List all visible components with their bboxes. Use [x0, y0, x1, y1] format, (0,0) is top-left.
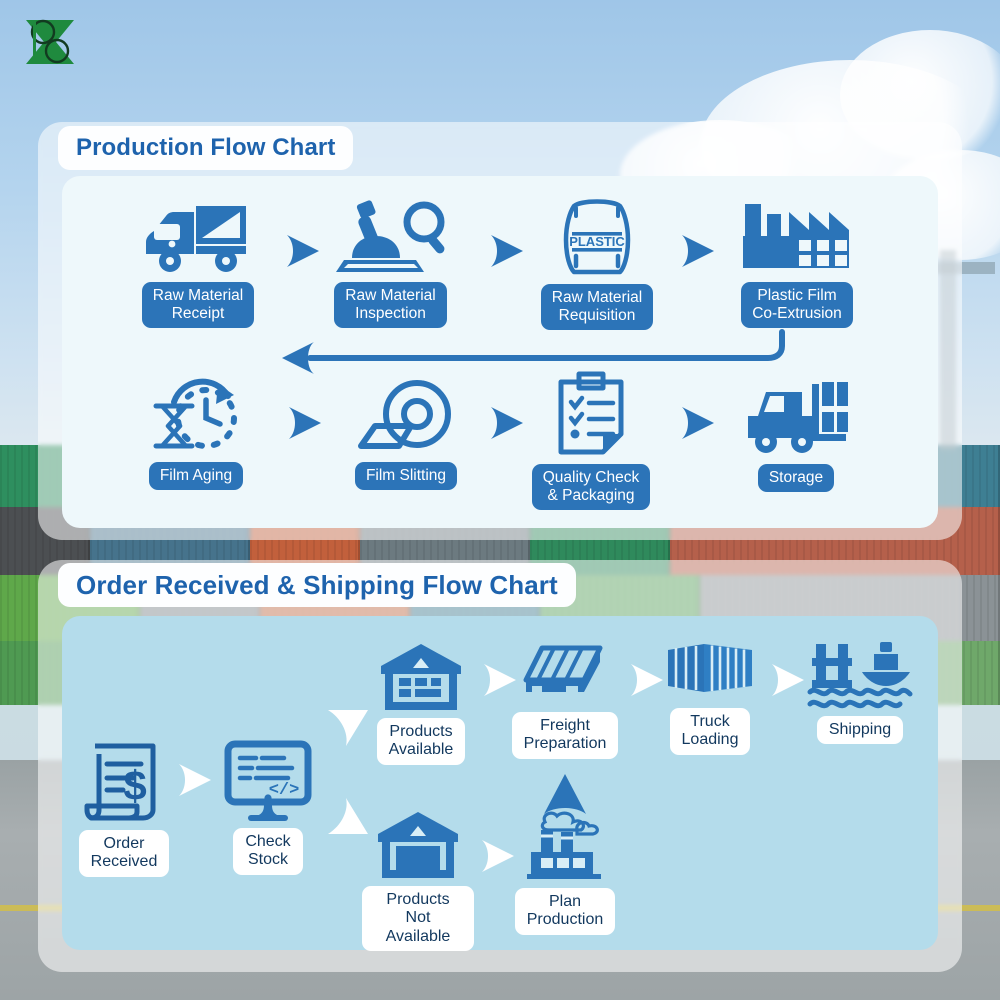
flow-arrow-right: [768, 662, 808, 698]
dollar-glyph: $: [123, 762, 146, 809]
shipping-container-icon: [664, 640, 756, 702]
node-film-slitting[interactable]: Film Slitting: [350, 378, 462, 490]
factory-smoke-icon: [519, 808, 611, 882]
branch-arrow-up: [325, 706, 371, 748]
node-check-stock[interactable]: </> Check Stock: [222, 740, 314, 875]
node-label: Check Stock: [233, 828, 302, 875]
sack-text: PLASTIC: [569, 234, 625, 249]
node-label: Plastic Film Co-Extrusion: [741, 282, 853, 328]
company-logo: [16, 14, 84, 70]
node-label: Order Received: [79, 830, 170, 877]
forklift-pallet-icon: [740, 372, 852, 458]
warehouse-closed-icon: [376, 808, 460, 880]
node-label: Quality Check & Packaging: [532, 464, 650, 510]
node-label: Shipping: [817, 716, 903, 744]
port-ship-icon: [808, 640, 912, 710]
node-film-aging[interactable]: Film Aging: [140, 378, 252, 490]
flow-arrow-right: [478, 838, 518, 874]
film-roll-icon: [351, 378, 461, 456]
flow-arrow-right: [627, 662, 667, 698]
infographic-canvas: Production Flow Chart Raw Material Recei…: [0, 0, 1000, 1000]
node-label: Freight Preparation: [512, 712, 619, 759]
node-truck-loading[interactable]: Truck Loading: [664, 640, 756, 755]
warehouse-open-icon: [379, 640, 463, 712]
flow-arrow-right: [678, 233, 718, 269]
microscope-magnifier-icon: [332, 198, 450, 276]
node-label: Storage: [758, 464, 834, 492]
node-plan-production[interactable]: Plan Production: [513, 808, 617, 935]
hourglass-clock-icon: [144, 378, 248, 456]
node-freight-preparation[interactable]: Freight Preparation: [512, 640, 618, 759]
node-plastic-film-coextrusion[interactable]: Plastic Film Co-Extrusion: [733, 198, 861, 328]
node-shipping[interactable]: Shipping: [810, 640, 910, 744]
node-label: Raw Material Inspection: [334, 282, 446, 328]
flow-arrow-right: [285, 405, 325, 441]
invoice-dollar-icon: $: [81, 740, 167, 824]
delivery-truck-icon: [142, 198, 254, 276]
node-label: Truck Loading: [670, 708, 751, 755]
node-storage[interactable]: Storage: [735, 372, 857, 492]
node-raw-material-receipt[interactable]: Raw Material Receipt: [133, 198, 263, 328]
flow-arrow-right: [487, 233, 527, 269]
node-label: Raw Material Receipt: [142, 282, 254, 328]
pallet-freight-icon: [522, 640, 608, 706]
clipboard-checklist-icon: [551, 370, 631, 458]
factory-icon: [737, 198, 857, 276]
node-products-available[interactable]: Products Available: [374, 640, 468, 765]
node-raw-material-inspection[interactable]: Raw Material Inspection: [328, 198, 453, 328]
monitor-code-icon: </>: [222, 740, 314, 822]
node-quality-check-packaging[interactable]: Quality Check & Packaging: [528, 370, 654, 510]
node-label: Plan Production: [515, 888, 616, 935]
node-products-not-available[interactable]: Products Not Available: [362, 808, 474, 951]
production-flow-title: Production Flow Chart: [58, 126, 353, 170]
node-label: Film Slitting: [355, 462, 457, 490]
plastic-sack-icon: PLASTIC: [554, 196, 640, 278]
code-glyph: </>: [269, 781, 300, 800]
node-label: Raw Material Requisition: [541, 284, 653, 330]
node-label: Products Not Available: [362, 886, 474, 951]
flow-arrow-right: [175, 762, 215, 798]
flow-arrow-right: [487, 405, 527, 441]
flow-arrow-right: [678, 405, 718, 441]
node-label: Products Available: [377, 718, 466, 765]
flow-arrow-right: [283, 233, 323, 269]
order-flow-title: Order Received & Shipping Flow Chart: [58, 563, 576, 607]
node-label: Film Aging: [149, 462, 243, 490]
node-raw-material-requisition[interactable]: PLASTIC Raw Material Requisition: [533, 196, 661, 330]
node-order-received[interactable]: $ Order Received: [78, 740, 170, 877]
